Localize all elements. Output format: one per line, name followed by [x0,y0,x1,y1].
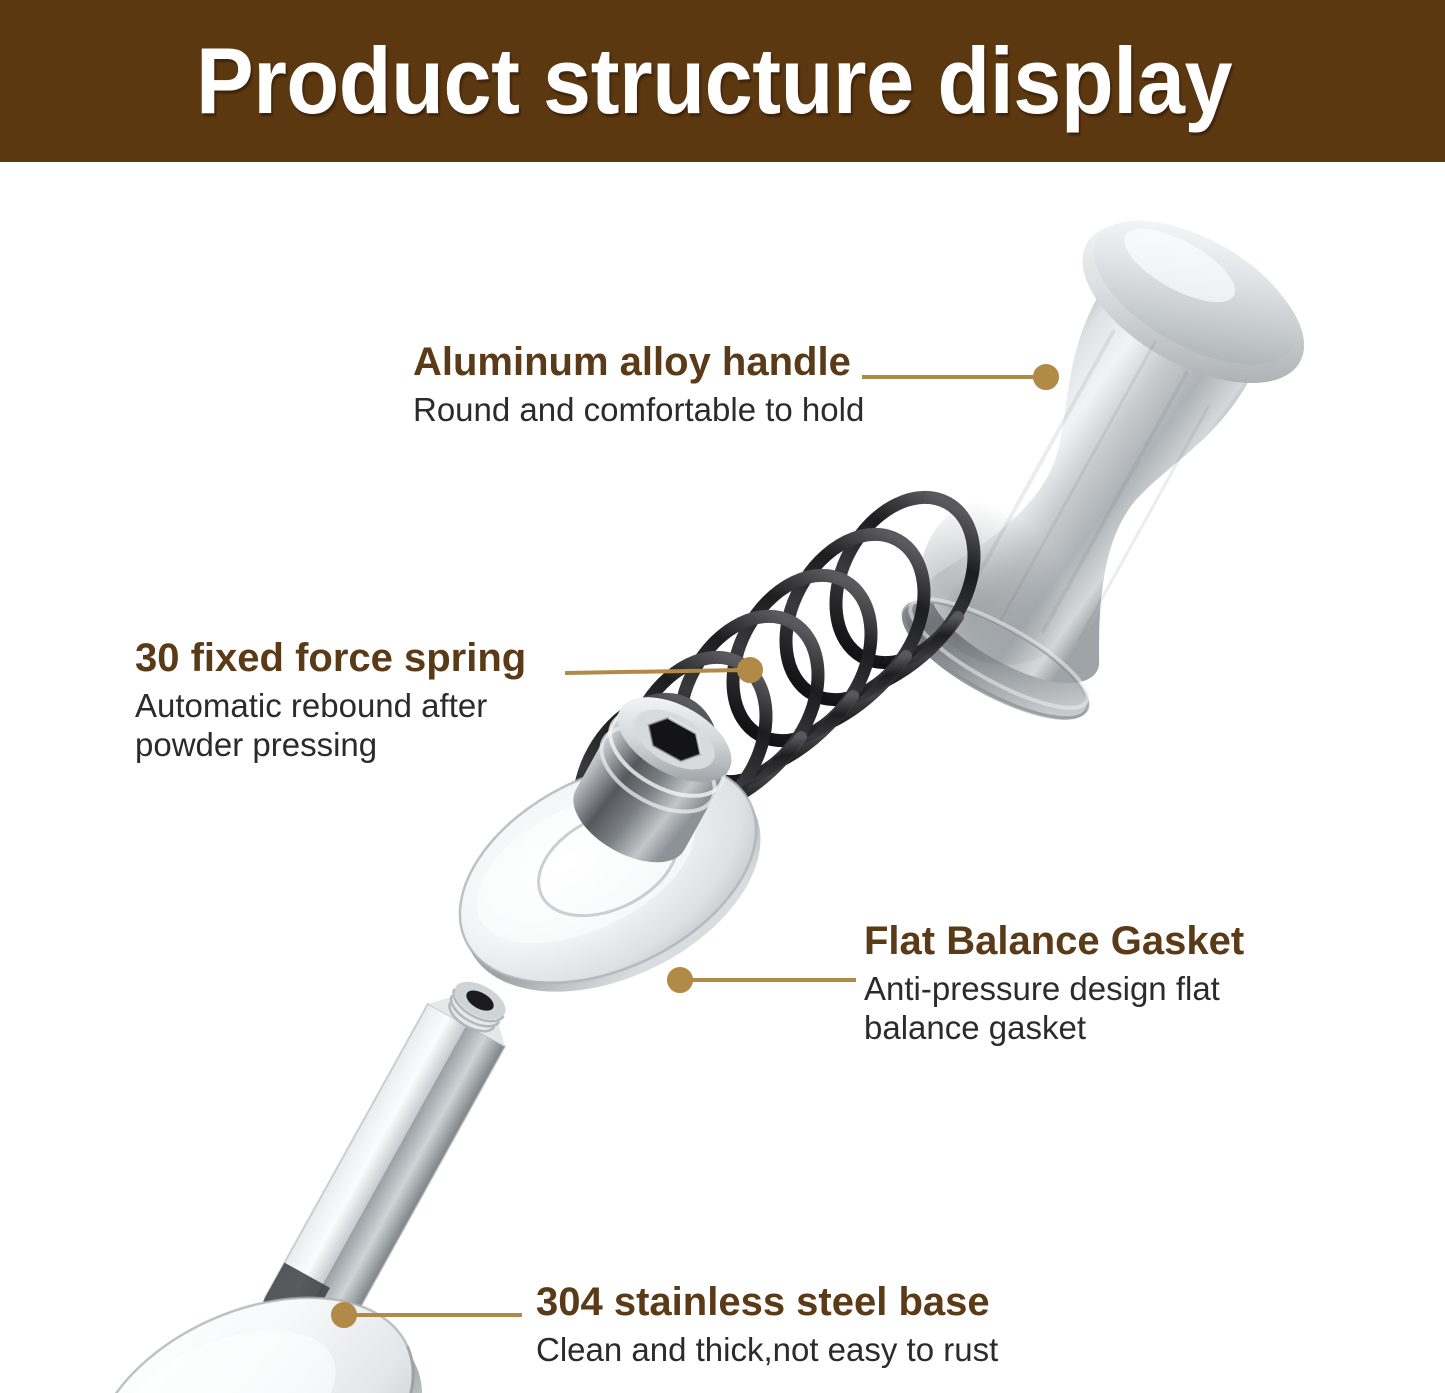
leader-dot-spring [739,659,761,681]
header-banner: Product structure display [0,0,1445,162]
callout-spring-desc: Automatic rebound after powder pressing [135,687,526,765]
callout-gasket-desc: Anti-pressure design flat balance gasket [864,970,1244,1048]
callout-handle-title: Aluminum alloy handle [413,341,864,384]
product-structure-infographic: Product structure display [0,0,1445,1393]
leader-dot-handle [1035,366,1057,388]
leader-dot-gasket [669,969,691,991]
callout-base-title: 304 stainless steel base [536,1281,998,1324]
leader-dot-base [333,1304,355,1326]
callout-gasket-title: Flat Balance Gasket [864,920,1244,963]
callout-handle-desc: Round and comfortable to hold [413,391,864,430]
callout-spring: 30 fixed force spring Automatic rebound … [135,637,526,765]
base-graphic [56,966,525,1393]
callout-handle: Aluminum alloy handle Round and comforta… [413,341,864,430]
callout-base-desc: Clean and thick,not easy to rust [536,1331,998,1370]
handle-graphic [871,188,1331,751]
callout-gasket: Flat Balance Gasket Anti-pressure design… [864,920,1244,1048]
callout-spring-title: 30 fixed force spring [135,637,526,680]
leader-line-spring [565,670,744,673]
callout-base: 304 stainless steel base Clean and thick… [536,1281,998,1370]
page-title: Product structure display [196,34,1232,128]
spring-graphic [552,473,1002,884]
